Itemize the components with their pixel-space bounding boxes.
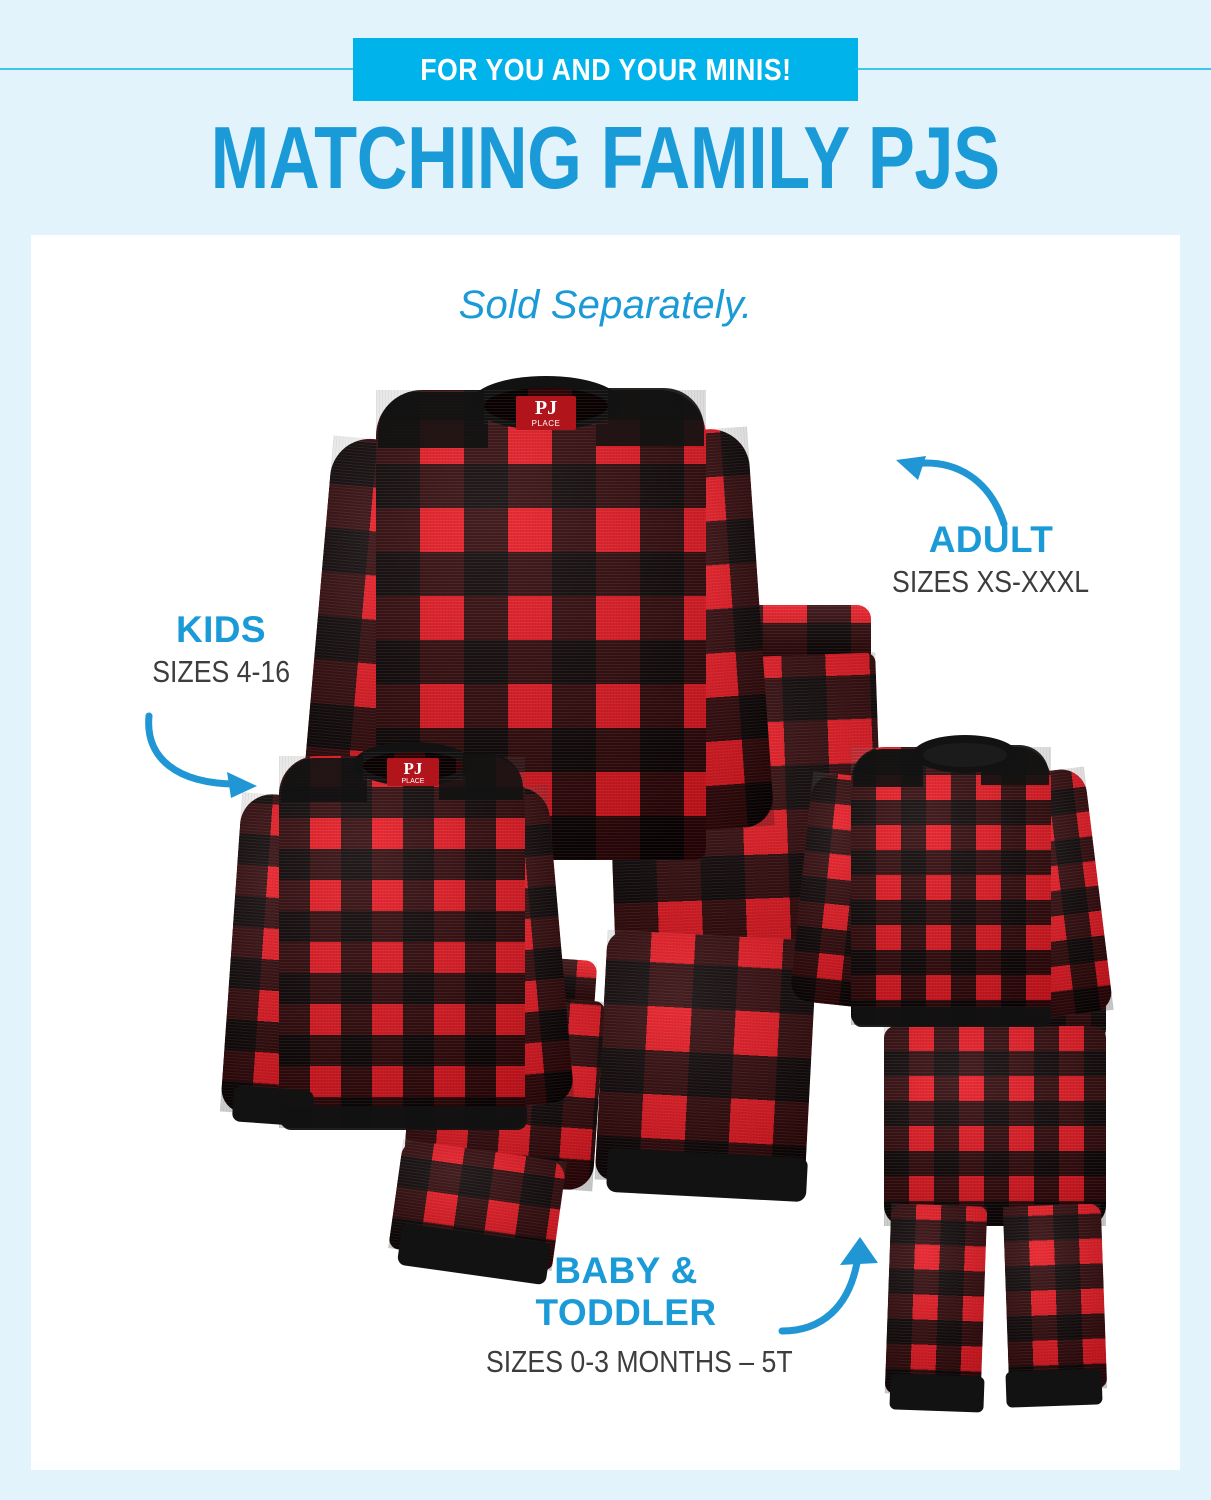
baby-toddler-pajama-pants bbox=[866, 990, 1116, 1460]
brand-tag-line2: PLACE bbox=[402, 778, 425, 785]
header-rule-right bbox=[857, 68, 1211, 70]
page-title: MATCHING FAMILY PJS bbox=[0, 112, 1211, 204]
callout-adult-sizes: SIZES XS-XXXL bbox=[846, 564, 1136, 600]
callout-kids: KIDS SIZES 4-16 bbox=[96, 610, 346, 690]
adult-pants-cuff bbox=[606, 1148, 808, 1202]
brand-tag-line1: PJ bbox=[535, 398, 557, 418]
callout-baby-toddler: BABY & TODDLER SIZES 0-3 MONTHS – 5T bbox=[461, 1250, 791, 1380]
callout-baby-title-line1: BABY & bbox=[461, 1250, 791, 1292]
adult-arrow-icon bbox=[886, 450, 1016, 530]
brand-tag-line2: PLACE bbox=[532, 420, 561, 428]
header-rule-left bbox=[0, 68, 354, 70]
kids-pajama-top: PJ PLACE bbox=[231, 740, 561, 1160]
kids-arrow-icon bbox=[141, 710, 271, 800]
callout-baby-sizes: SIZES 0-3 MONTHS – 5T bbox=[461, 1344, 791, 1380]
page-header: FOR YOU AND YOUR MINIS! MATCHING FAMILY … bbox=[0, 0, 1211, 235]
baby-pants-cuff-left bbox=[889, 1373, 984, 1412]
content-panel: Sold Separately. bbox=[31, 235, 1180, 1470]
brand-tag-line1: PJ bbox=[404, 760, 423, 777]
callout-adult-title: ADULT bbox=[846, 520, 1136, 560]
panel-bottom-edge bbox=[31, 1462, 1180, 1470]
baby-pants-cuff-right bbox=[1005, 1368, 1102, 1407]
baby-toddler-pajama-top bbox=[801, 735, 1101, 1055]
callout-adult: ADULT SIZES XS-XXXL bbox=[846, 520, 1136, 600]
callout-kids-title: KIDS bbox=[96, 610, 346, 650]
brand-tag: PJ PLACE bbox=[387, 758, 439, 786]
baby-arrow-icon bbox=[776, 1235, 896, 1345]
eyebrow-banner: FOR YOU AND YOUR MINIS! bbox=[353, 38, 858, 101]
eyebrow-text: FOR YOU AND YOUR MINIS! bbox=[420, 52, 791, 88]
callout-baby-title-line2: TODDLER bbox=[461, 1292, 791, 1334]
brand-tag: PJ PLACE bbox=[516, 396, 576, 430]
callout-kids-sizes: SIZES 4-16 bbox=[96, 654, 346, 690]
page-title-text: MATCHING FAMILY PJS bbox=[211, 112, 1000, 204]
